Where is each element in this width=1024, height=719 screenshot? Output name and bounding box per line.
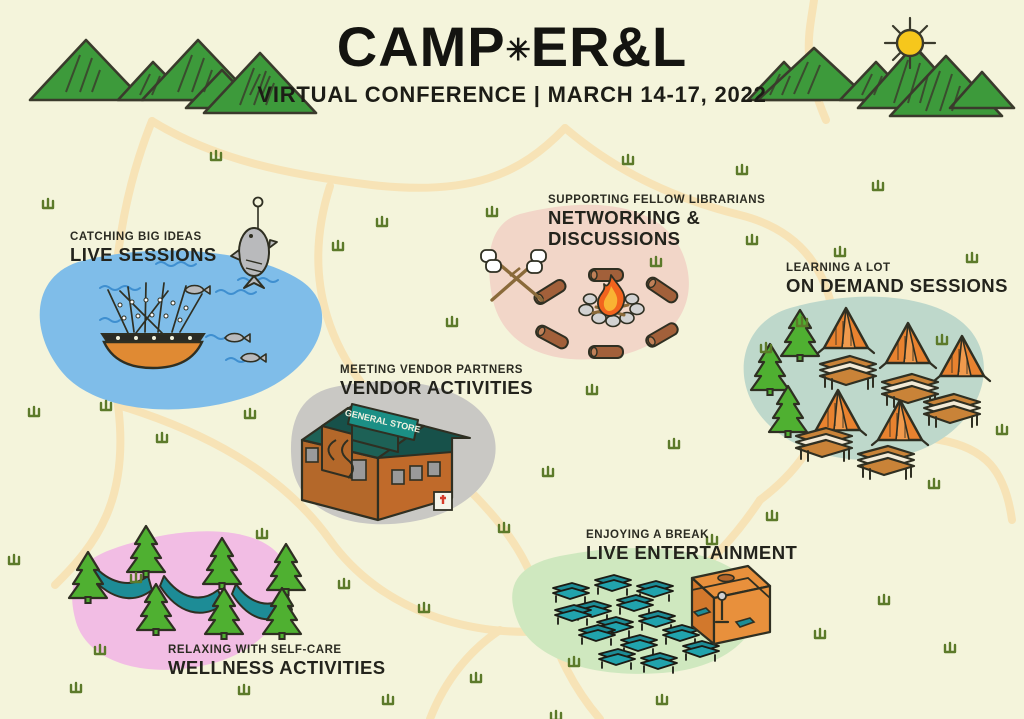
label-main: LIVE SESSIONS: [70, 244, 217, 265]
label-sub: MEETING VENDOR PARTNERS: [340, 363, 533, 377]
label-main: WELLNESS ACTIVITIES: [168, 657, 386, 678]
label-main: VENDOR ACTIVITIES: [340, 377, 533, 398]
page-title: CAMP✳ER&L: [0, 18, 1024, 80]
label-main-line2: DISCUSSIONS: [548, 228, 765, 249]
stage-pavilion-icon: [692, 566, 770, 644]
log-icon: [589, 346, 623, 358]
star-icon: ✳: [506, 34, 531, 67]
title-part2: ER&L: [531, 15, 687, 78]
label-on-demand[interactable]: LEARNING A LOT ON DEMAND SESSIONS: [786, 261, 1008, 296]
label-main: ON DEMAND SESSIONS: [786, 275, 1008, 296]
camp-erl-poster: GENERAL STORE: [0, 0, 1024, 719]
label-sub: ENJOYING A BREAK: [586, 528, 797, 542]
label-main: LIVE ENTERTAINMENT: [586, 542, 797, 563]
label-main-line1: NETWORKING &: [548, 207, 765, 228]
title-part1: CAMP: [337, 15, 506, 78]
log-icon: [589, 269, 623, 281]
label-sub: LEARNING A LOT: [786, 261, 1008, 275]
label-networking[interactable]: SUPPORTING FELLOW LIBRARIANS NETWORKING …: [548, 193, 765, 249]
label-entertainment[interactable]: ENJOYING A BREAK LIVE ENTERTAINMENT: [586, 528, 797, 563]
label-sub: SUPPORTING FELLOW LIBRARIANS: [548, 193, 765, 207]
label-sub: CATCHING BIG IDEAS: [70, 230, 217, 244]
label-wellness[interactable]: RELAXING WITH SELF-CARE WELLNESS ACTIVIT…: [168, 643, 386, 678]
page-subtitle: VIRTUAL CONFERENCE | MARCH 14-17, 2022: [0, 82, 1024, 108]
label-vendor[interactable]: MEETING VENDOR PARTNERS VENDOR ACTIVITIE…: [340, 363, 533, 398]
label-sub: RELAXING WITH SELF-CARE: [168, 643, 386, 657]
poster-title-block: CAMP✳ER&L VIRTUAL CONFERENCE | MARCH 14-…: [0, 18, 1024, 108]
label-live-sessions[interactable]: CATCHING BIG IDEAS LIVE SESSIONS: [70, 230, 217, 265]
